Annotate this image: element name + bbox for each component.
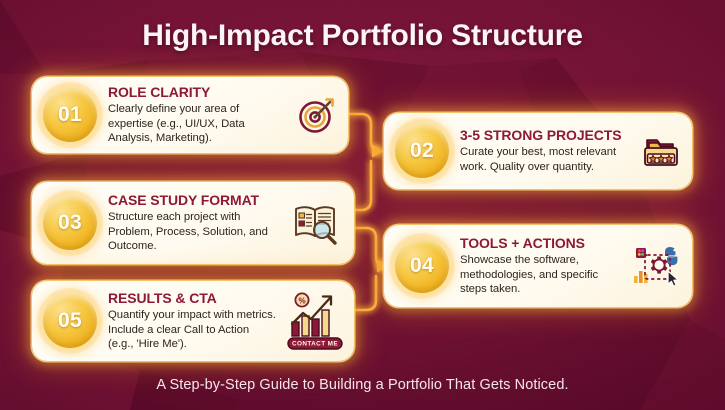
step-badge-wrap-03: 03 <box>32 196 108 250</box>
step-desc-03: Structure each project with Problem, Pro… <box>108 210 276 254</box>
step-body-05: RESULTS & CTA Quantify your impact with … <box>108 290 280 352</box>
step-desc-02: Curate your best, most relevant work. Qu… <box>460 145 626 175</box>
target-dartboard-icon <box>286 95 348 135</box>
step-title-05: RESULTS & CTA <box>108 290 276 306</box>
step-badge-wrap-05: 05 <box>32 294 108 348</box>
folder-stars-icon <box>630 131 692 171</box>
step-number-01: 01 <box>58 103 82 127</box>
step-title-01: ROLE CLARITY <box>108 84 282 100</box>
contact-me-label: CONTACT ME <box>292 341 338 348</box>
step-desc-05: Quantify your impact with metrics. Inclu… <box>108 308 276 352</box>
growth-chart-cta-icon: % CONTACT ME <box>280 292 354 350</box>
open-book-magnifier-icon <box>280 201 354 245</box>
step-card-04[interactable]: 04 TOOLS + ACTIONS Showcase the software… <box>384 225 692 307</box>
step-card-01[interactable]: 01 ROLE CLARITY Clearly define your area… <box>32 77 348 153</box>
step-title-02: 3-5 STRONG PROJECTS <box>460 127 626 143</box>
step-body-04: TOOLS + ACTIONS Showcase the software, m… <box>460 235 620 297</box>
step-number-badge-03: 03 <box>43 196 97 250</box>
step-number-05: 05 <box>58 309 82 333</box>
footer-caption: A Step-by-Step Guide to Building a Portf… <box>0 377 725 393</box>
step-card-05[interactable]: 05 RESULTS & CTA Quantify your impact wi… <box>32 281 354 361</box>
step-number-03: 03 <box>58 211 82 235</box>
step-body-03: CASE STUDY FORMAT Structure each project… <box>108 192 280 254</box>
step-title-04: TOOLS + ACTIONS <box>460 235 616 251</box>
step-number-badge-02: 02 <box>395 124 449 178</box>
percent-badge-symbol: % <box>298 297 305 306</box>
step-number-02: 02 <box>410 139 434 163</box>
step-number-badge-01: 01 <box>43 88 97 142</box>
step-card-03[interactable]: 03 CASE STUDY FORMAT Structure each proj… <box>32 182 354 264</box>
step-badge-wrap-02: 02 <box>384 124 460 178</box>
gear-cursor-tools-icon <box>620 244 692 288</box>
step-desc-01: Clearly define your area of expertise (e… <box>108 102 282 146</box>
step-card-02[interactable]: 02 3-5 STRONG PROJECTS Curate your best,… <box>384 113 692 189</box>
step-badge-wrap-04: 04 <box>384 239 460 293</box>
step-number-badge-04: 04 <box>395 239 449 293</box>
step-body-01: ROLE CLARITY Clearly define your area of… <box>108 84 286 146</box>
step-body-02: 3-5 STRONG PROJECTS Curate your best, mo… <box>460 127 630 175</box>
page-title: High-Impact Portfolio Structure <box>0 19 725 53</box>
step-number-badge-05: 05 <box>43 294 97 348</box>
step-badge-wrap-01: 01 <box>32 88 108 142</box>
step-title-03: CASE STUDY FORMAT <box>108 192 276 208</box>
step-number-04: 04 <box>410 254 434 278</box>
step-desc-04: Showcase the software, methodologies, an… <box>460 253 616 297</box>
